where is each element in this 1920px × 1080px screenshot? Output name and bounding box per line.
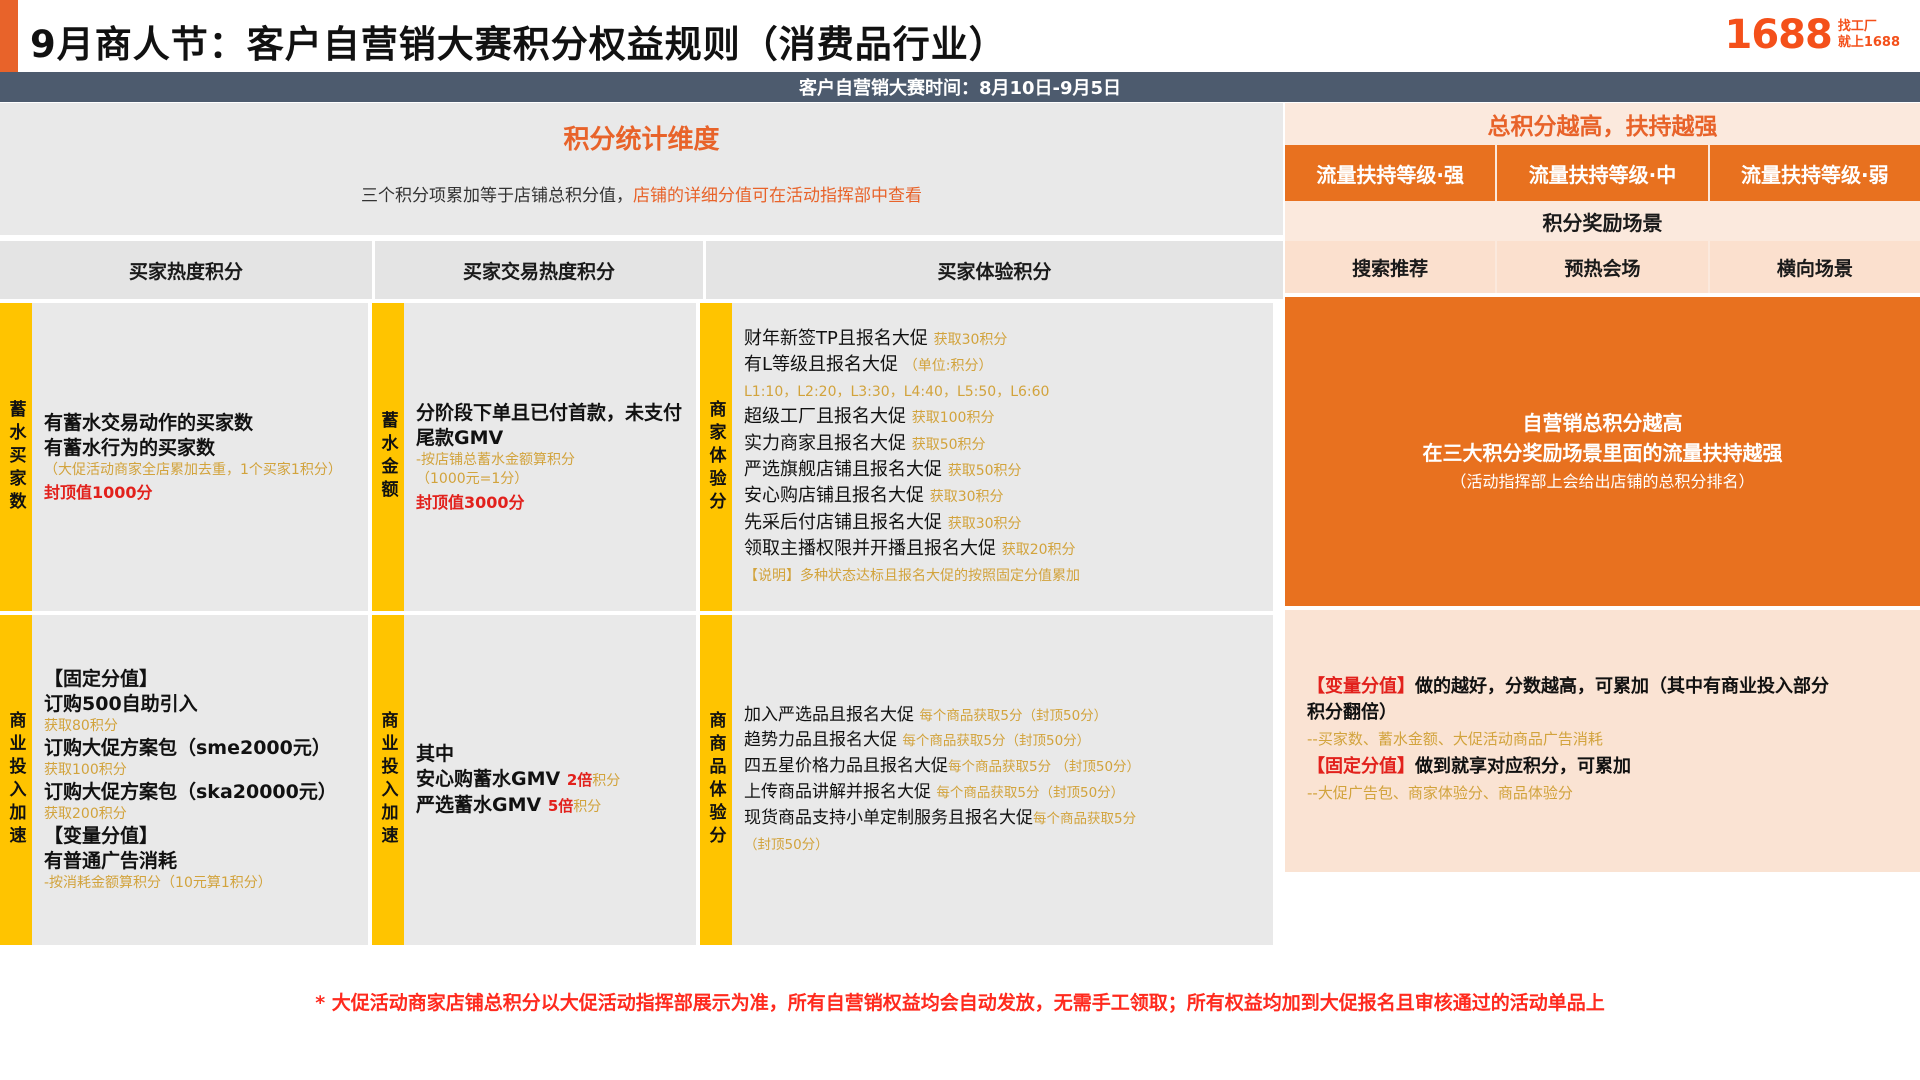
note-variable-score: 【变量分值】做的越好，分数越高，可累加（其中有商业投入部分 xyxy=(1307,674,1898,700)
vertical-label-reservoir-amount: 蓄水金额 xyxy=(372,303,404,611)
text-subnote: （大促活动商家全店累加去重，1个买家1积分） xyxy=(44,461,356,480)
item-main: 领取主播权限并开播且报名大促 xyxy=(744,538,996,559)
list-item: 严选蓄水GMV 5倍积分 xyxy=(416,793,684,818)
cell-reservoir-buyers: 蓄水买家数 有蓄水交易动作的买家数 有蓄水行为的买家数 （大促活动商家全店累加去… xyxy=(0,303,368,611)
note-fixed-subitems: --大促广告包、商家体验分、商品体验分 xyxy=(1307,779,1898,808)
cell-body-merchant-experience: 财年新签TP且报名大促 获取30积分 有L等级且报名大促 （单位:积分） L1:… xyxy=(732,303,1273,611)
item-note: （封顶50分） xyxy=(744,837,829,853)
list-item: 有L等级且报名大促 （单位:积分） xyxy=(744,352,1261,378)
text-line: 【变量分值】 xyxy=(44,824,356,849)
text-subnote: -按店铺总蓄水金额算积分 xyxy=(416,451,684,470)
item-main: 安心购蓄水GMV xyxy=(416,768,560,790)
scoring-dimensions-panel: 积分统计维度 三个积分项累加等于店铺总积分值，店铺的详细分值可在活动指挥部中查看… xyxy=(0,103,1283,948)
summary-line-3: （活动指挥部上会给出店铺的总积分排名） xyxy=(1450,468,1754,495)
item-note: 每个商品获取5分（封顶50分） xyxy=(919,708,1107,724)
traffic-support-title: 总积分越高，扶持越强 xyxy=(1285,103,1920,145)
item-main: 有L等级且报名大促 xyxy=(744,354,898,375)
item-note: 积分 xyxy=(592,773,620,789)
list-item: 现货商品支持小单定制服务且报名大促每个商品获取5分 xyxy=(744,806,1261,832)
scoring-note-block: 【变量分值】做的越好，分数越高，可累加（其中有商业投入部分 积分翻倍） --买家… xyxy=(1285,610,1920,872)
item-note: 获取30积分 xyxy=(934,332,1008,348)
footnote-disclaimer: * 大促活动商家店铺总积分以大促活动指挥部展示为准，所有自营销权益均会自动发放，… xyxy=(0,988,1920,1015)
scoring-intro-subtitle: 三个积分项累加等于店铺总积分值，店铺的详细分值可在活动指挥部中查看 xyxy=(0,181,1283,206)
item-note: 获取30积分 xyxy=(930,489,1004,505)
reward-scenes-title: 积分奖励场景 xyxy=(1285,201,1920,241)
cell-body-reservoir-buyers: 有蓄水交易动作的买家数 有蓄水行为的买家数 （大促活动商家全店累加去重，1个买家… xyxy=(32,303,368,611)
item-main: 超级工厂且报名大促 xyxy=(744,406,906,427)
reward-scenes: 搜索推荐 预热会场 横向场景 xyxy=(1285,241,1920,293)
text-line: 订购500自助引入 xyxy=(44,692,356,717)
traffic-level-strong: 流量扶持等级·强 xyxy=(1285,145,1497,201)
list-item: L1:10，L2:20，L3:30，L4:40，L5:50，L6:60 xyxy=(744,378,1261,404)
item-multiplier: 2倍 xyxy=(567,771,592,789)
scoring-intro-subtitle-plain: 三个积分项累加等于店铺总积分值， xyxy=(361,186,633,206)
traffic-level-weak: 流量扶持等级·弱 xyxy=(1710,145,1920,201)
logo-tagline-line2: 就上1688 xyxy=(1838,35,1900,51)
page-header: 9月商人节：客户自营销大赛积分权益规则（消费品行业） 1688 找工厂 就上16… xyxy=(0,0,1920,72)
scoring-intro-title: 积分统计维度 xyxy=(0,119,1283,156)
note-text-fixed: 做到就享对应积分，可累加 xyxy=(1415,756,1631,777)
traffic-level-medium: 流量扶持等级·中 xyxy=(1497,145,1709,201)
traffic-support-summary-block: 自营销总积分越高 在三大积分奖励场景里面的流量扶持越强 （活动指挥部上会给出店铺… xyxy=(1285,297,1920,606)
scene-horizontal: 横向场景 xyxy=(1710,241,1920,293)
item-multiplier: 5倍 xyxy=(548,797,573,815)
brand-logo: 1688 找工厂 就上1688 xyxy=(1724,16,1900,54)
list-item: 超级工厂且报名大促 获取100积分 xyxy=(744,404,1261,430)
traffic-support-levels: 流量扶持等级·强 流量扶持等级·中 流量扶持等级·弱 xyxy=(1285,145,1920,201)
item-main: 安心购店铺且报名大促 xyxy=(744,485,924,506)
text-line: 订购大促方案包（ska20000元） xyxy=(44,780,356,805)
text-line: 有蓄水行为的买家数 xyxy=(44,436,356,461)
list-item: 财年新签TP且报名大促 获取30积分 xyxy=(744,326,1261,352)
column-header-buyer-heat: 买家热度积分 xyxy=(0,241,372,299)
summary-line-1: 自营销总积分越高 xyxy=(1523,408,1683,438)
column-header-buyer-experience: 买家体验积分 xyxy=(706,241,1283,299)
item-note: （单位:积分） xyxy=(904,358,993,374)
item-note: 获取20积分 xyxy=(1002,542,1076,558)
item-main: 财年新签TP且报名大促 xyxy=(744,328,928,349)
list-item: 四五星价格力品且报名大促每个商品获取5分 （封顶50分） xyxy=(744,754,1261,780)
text-cap-value: 封顶值1000分 xyxy=(44,479,356,503)
item-main: 严选旗舰店铺且报名大促 xyxy=(744,459,942,480)
vertical-label-business-investment-2: 商业投入加速 xyxy=(372,615,404,945)
text-line: 有普通广告消耗 xyxy=(44,849,356,874)
logo-tagline-line1: 找工厂 xyxy=(1838,19,1900,35)
note-variable-score-cont: 积分翻倍） xyxy=(1307,700,1898,726)
scene-search-recommend: 搜索推荐 xyxy=(1285,241,1497,293)
list-item: 实力商家且报名大促 获取50积分 xyxy=(744,431,1261,457)
text-line: 其中 xyxy=(416,742,684,767)
list-item: 【说明】多种状态达标且报名大促的按照固定分值累加 xyxy=(744,562,1261,588)
item-note: L1:10，L2:20，L3:30，L4:40，L5:50，L6:60 xyxy=(744,384,1049,400)
item-note: 积分 xyxy=(573,799,601,815)
item-note: 每个商品获取5分（封顶50分） xyxy=(936,785,1124,801)
item-note: 获取50积分 xyxy=(948,463,1022,479)
cell-body-business-investment-detail: 其中 安心购蓄水GMV 2倍积分 严选蓄水GMV 5倍积分 xyxy=(404,615,696,945)
item-note: 【说明】多种状态达标且报名大促的按照固定分值累加 xyxy=(744,568,1080,584)
list-item: 趋势力品且报名大促 每个商品获取5分（封顶50分） xyxy=(744,728,1261,754)
logo-tagline: 找工厂 就上1688 xyxy=(1838,19,1900,55)
campaign-date-bar: 客户自营销大赛时间：8月10日-9月5日 xyxy=(0,72,1920,102)
item-main: 先采后付店铺且报名大促 xyxy=(744,512,942,533)
cell-business-investment: 商业投入加速 【固定分值】 订购500自助引入 获取80积分 订购大促方案包（s… xyxy=(0,615,368,945)
column-header-buyer-trade-heat: 买家交易热度积分 xyxy=(375,241,703,299)
note-tag-variable: 【变量分值】 xyxy=(1307,676,1415,697)
text-subnote: 获取100积分 xyxy=(44,761,356,780)
vertical-label-reservoir-buyers: 蓄水买家数 xyxy=(0,303,32,611)
item-main: 趋势力品且报名大促 xyxy=(744,730,897,750)
text-subnote: （1000元=1分） xyxy=(416,470,684,489)
table-row: 商业投入加速 【固定分值】 订购500自助引入 获取80积分 订购大促方案包（s… xyxy=(0,615,1283,945)
list-item: （封顶50分） xyxy=(744,832,1261,858)
text-line: 【固定分值】 xyxy=(44,667,356,692)
logo-1688-text: 1688 xyxy=(1724,16,1831,54)
text-cap-value: 封顶值3000分 xyxy=(416,489,684,513)
item-note: 每个商品获取5分（封顶50分） xyxy=(902,733,1090,749)
note-tag-fixed: 【固定分值】 xyxy=(1307,756,1415,777)
cell-body-reservoir-amount: 分阶段下单且已付首款，未支付尾款GMV -按店铺总蓄水金额算积分 （1000元=… xyxy=(404,303,696,611)
list-item: 加入严选品且报名大促 每个商品获取5分（封顶50分） xyxy=(744,703,1261,729)
list-item: 领取主播权限并开播且报名大促 获取20积分 xyxy=(744,536,1261,562)
cell-reservoir-amount: 蓄水金额 分阶段下单且已付首款，未支付尾款GMV -按店铺总蓄水金额算积分 （1… xyxy=(372,303,696,611)
cell-body-business-investment: 【固定分值】 订购500自助引入 获取80积分 订购大促方案包（sme2000元… xyxy=(32,615,368,945)
item-main: 严选蓄水GMV xyxy=(416,794,541,816)
note-text-variable: 做的越好，分数越高，可累加（其中有商业投入部分 xyxy=(1415,676,1829,697)
text-line: 订购大促方案包（sme2000元） xyxy=(44,736,356,761)
cell-merchant-experience: 商家体验分 财年新签TP且报名大促 获取30积分 有L等级且报名大促 （单位:积… xyxy=(700,303,1273,611)
item-note: 获取50积分 xyxy=(912,437,986,453)
scoring-intro-block: 积分统计维度 三个积分项累加等于店铺总积分值，店铺的详细分值可在活动指挥部中查看 xyxy=(0,103,1283,235)
list-item: 安心购蓄水GMV 2倍积分 xyxy=(416,767,684,792)
text-subnote: -按消耗金额算积分（10元算1积分） xyxy=(44,874,356,893)
item-note: 每个商品获取5分 xyxy=(1033,811,1136,827)
list-item: 上传商品讲解并报名大促 每个商品获取5分（封顶50分） xyxy=(744,780,1261,806)
page-title: 9月商人节：客户自营销大赛积分权益规则（消费品行业） xyxy=(30,14,1007,68)
list-item: 严选旗舰店铺且报名大促 获取50积分 xyxy=(744,457,1261,483)
cell-body-product-experience: 加入严选品且报名大促 每个商品获取5分（封顶50分） 趋势力品且报名大促 每个商… xyxy=(732,615,1273,945)
item-main: 上传商品讲解并报名大促 xyxy=(744,782,931,802)
list-item: 先采后付店铺且报名大促 获取30积分 xyxy=(744,510,1261,536)
item-main: 实力商家且报名大促 xyxy=(744,433,906,454)
text-subnote: 获取80积分 xyxy=(44,717,356,736)
scoring-column-headers: 买家热度积分 买家交易热度积分 买家体验积分 xyxy=(0,241,1283,299)
header-accent-bar xyxy=(0,0,18,72)
item-main: 加入严选品且报名大促 xyxy=(744,705,914,725)
item-main: 四五星价格力品且报名大促 xyxy=(744,756,948,776)
cell-product-experience: 商商品体验分 加入严选品且报名大促 每个商品获取5分（封顶50分） 趋势力品且报… xyxy=(700,615,1273,945)
item-main: 现货商品支持小单定制服务且报名大促 xyxy=(744,808,1033,828)
vertical-label-product-experience: 商商品体验分 xyxy=(700,615,732,945)
text-line: 分阶段下单且已付首款，未支付尾款GMV xyxy=(416,401,684,451)
vertical-label-merchant-experience: 商家体验分 xyxy=(700,303,732,611)
traffic-support-panel: 总积分越高，扶持越强 流量扶持等级·强 流量扶持等级·中 流量扶持等级·弱 积分… xyxy=(1285,103,1920,948)
vertical-label-business-investment: 商业投入加速 xyxy=(0,615,32,945)
list-item: 安心购店铺且报名大促 获取30积分 xyxy=(744,483,1261,509)
item-note: 每个商品获取5分 （封顶50分） xyxy=(948,759,1140,775)
scene-warmup-venue: 预热会场 xyxy=(1497,241,1709,293)
scoring-rows: 蓄水买家数 有蓄水交易动作的买家数 有蓄水行为的买家数 （大促活动商家全店累加去… xyxy=(0,303,1283,949)
text-line: 有蓄水交易动作的买家数 xyxy=(44,411,356,436)
scoring-intro-subtitle-highlight: 店铺的详细分值可在活动指挥部中查看 xyxy=(633,186,922,206)
summary-line-2: 在三大积分奖励场景里面的流量扶持越强 xyxy=(1423,438,1783,468)
cell-business-investment-detail: 商业投入加速 其中 安心购蓄水GMV 2倍积分 严选蓄水GMV 5倍积分 xyxy=(372,615,696,945)
text-subnote: 获取200积分 xyxy=(44,805,356,824)
item-note: 获取100积分 xyxy=(912,410,995,426)
note-variable-subitems: --买家数、蓄水金额、大促活动商品广告消耗 xyxy=(1307,725,1898,754)
note-fixed-score: 【固定分值】做到就享对应积分，可累加 xyxy=(1307,754,1898,780)
table-row: 蓄水买家数 有蓄水交易动作的买家数 有蓄水行为的买家数 （大促活动商家全店累加去… xyxy=(0,303,1283,611)
item-note: 获取30积分 xyxy=(948,516,1022,532)
